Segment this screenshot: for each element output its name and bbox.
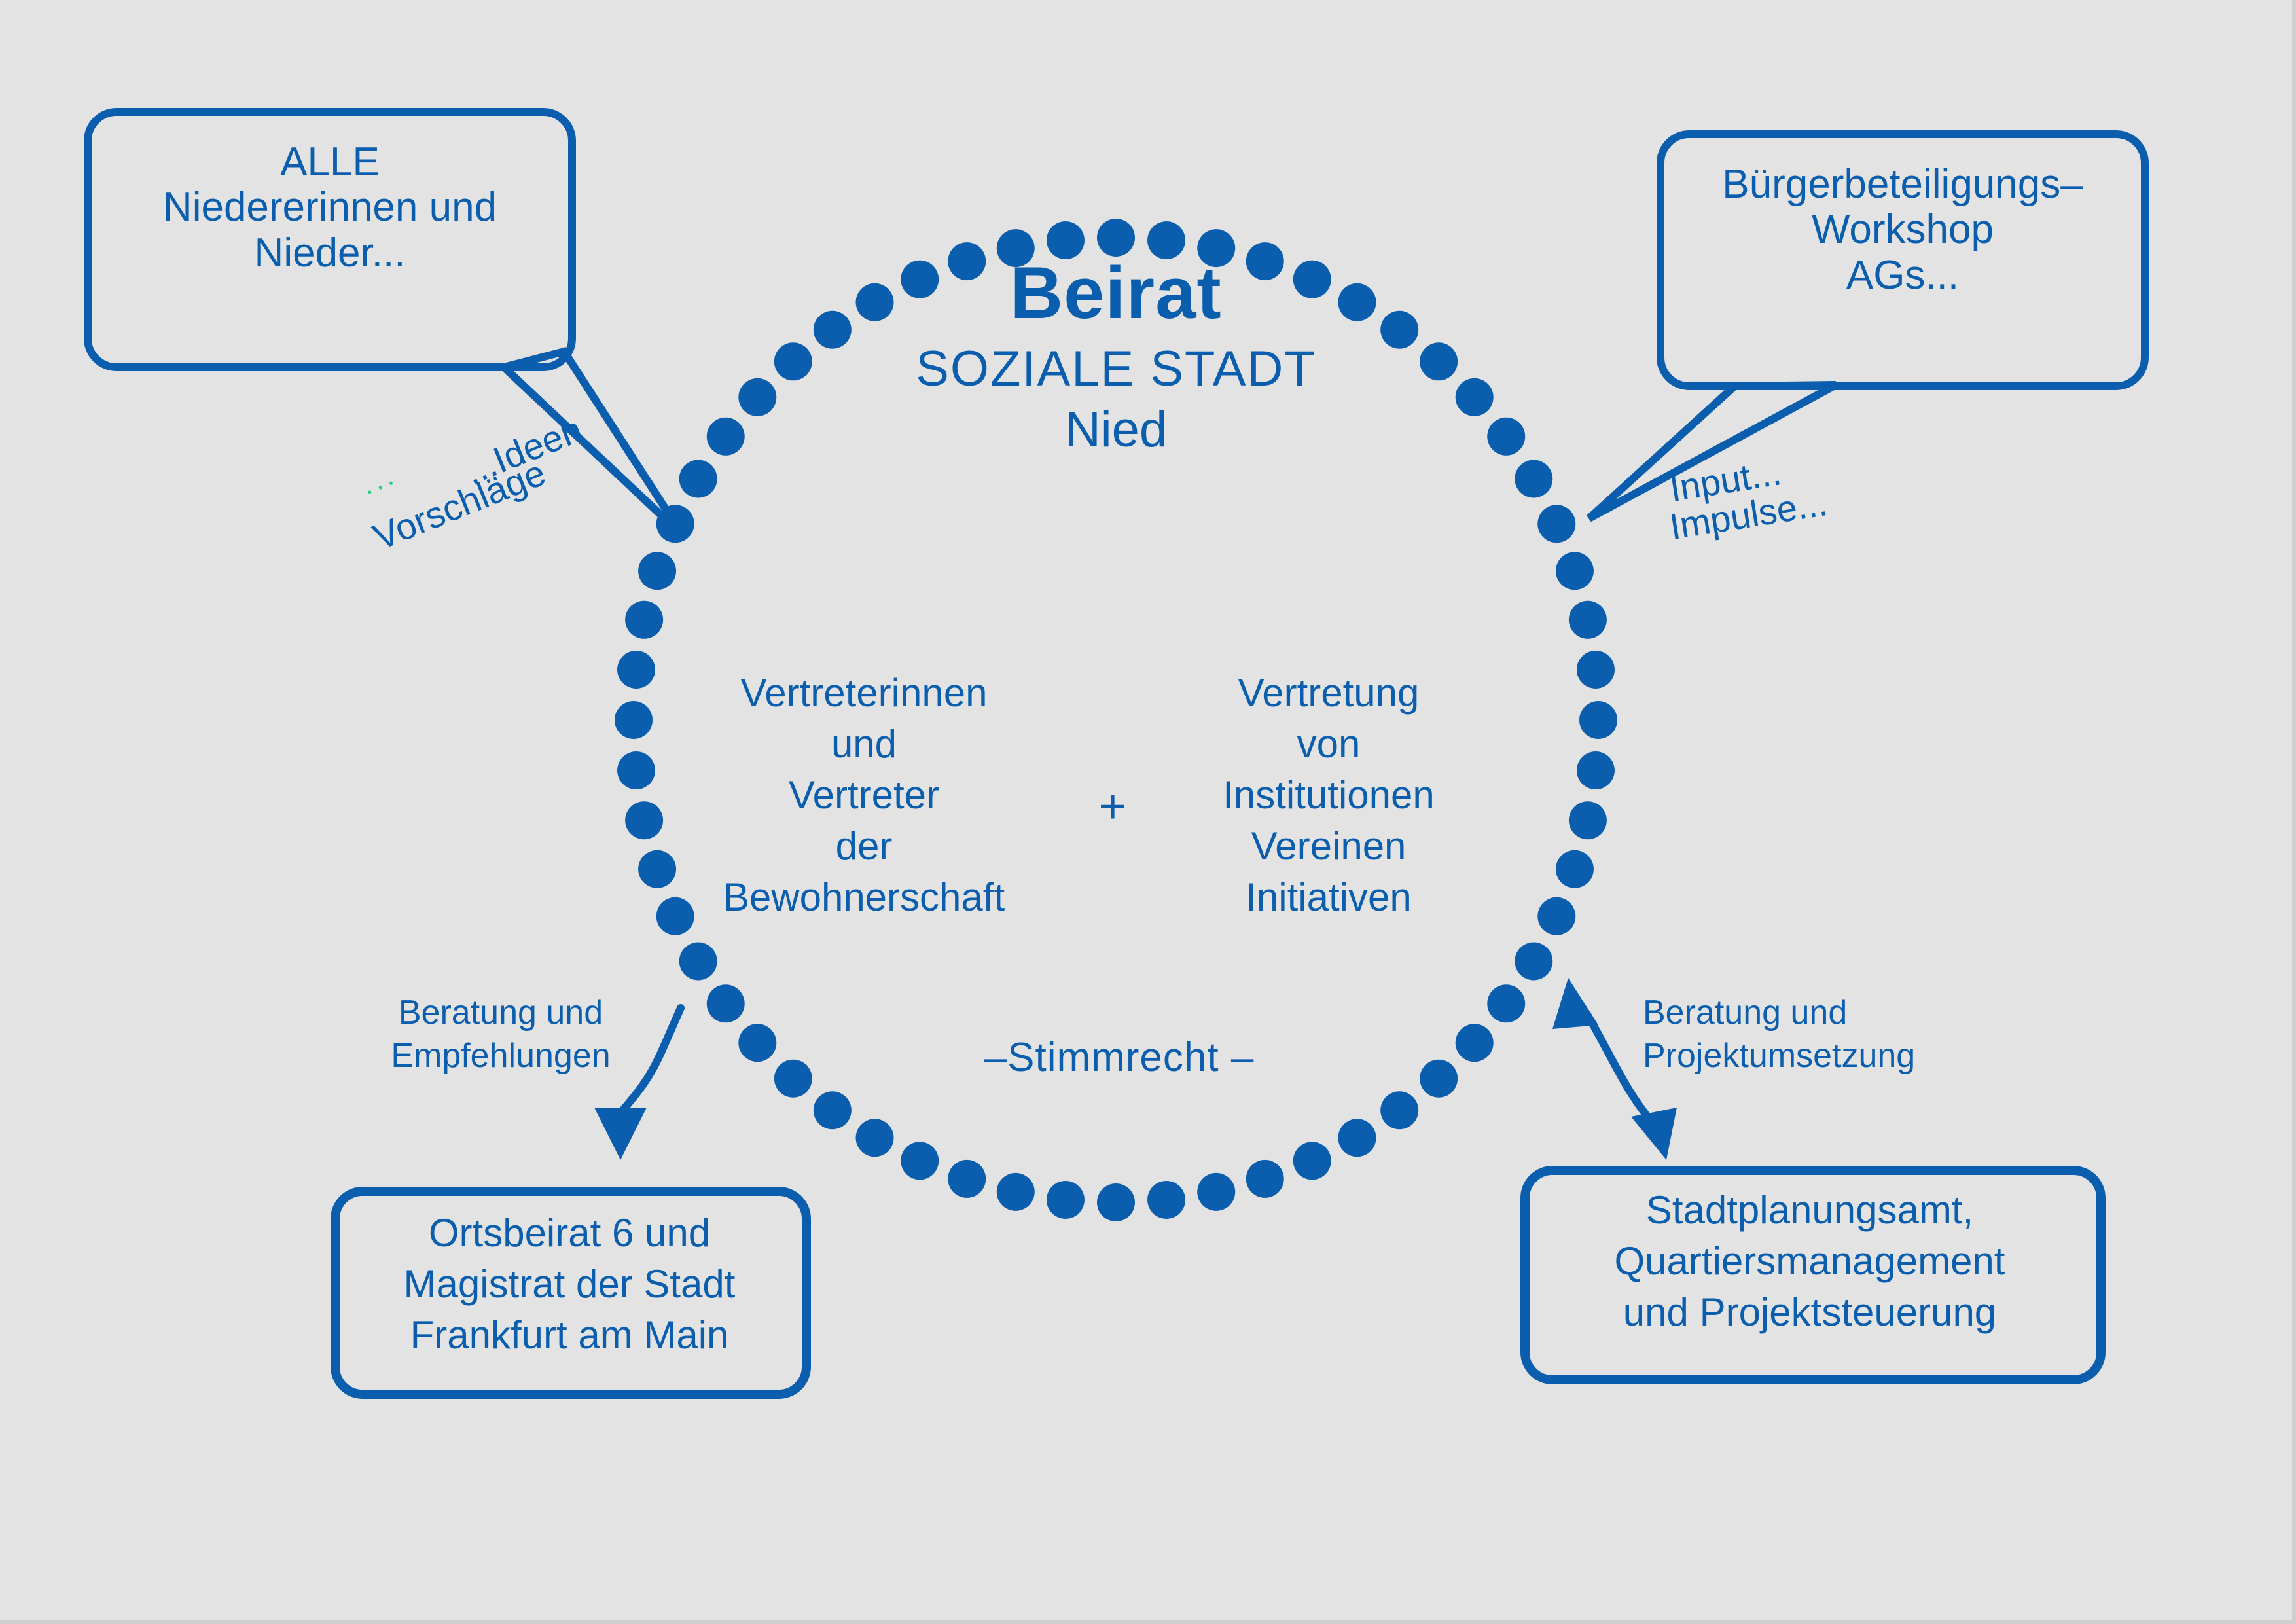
ring-dot [1246,1160,1284,1198]
left-col-line5: Bewohnerschaft [681,872,1047,923]
bubble-tr-line1: Bürgerbeteiligungs– [1660,162,2145,207]
bubble-top-right-text: Bürgerbeteiligungs– Workshop AGs... [1660,162,2145,298]
ring-dot [707,984,745,1022]
bubble-tr-line3: AGs... [1660,253,2145,298]
ring-dot [774,1060,812,1098]
left-flow-line2: Empfehlungen [370,1035,632,1078]
ring-dot [1293,1142,1331,1180]
ring-dot [856,1119,894,1157]
ring-dot [738,1024,776,1062]
stimmrecht-label: –Stimmrecht – [910,1034,1329,1081]
ring-dot [1097,219,1135,257]
left-flow-line1: Beratung und [370,992,632,1035]
ring-dot [707,418,745,456]
arrowhead-up [1552,978,1598,1029]
ring-dot [679,943,717,981]
box-br-line1: Stadtplanungsamt, [1525,1185,2094,1236]
ring-dot [1487,984,1525,1022]
box-bl-line1: Ortsbeirat 6 und [337,1208,802,1259]
box-bl-line3: Frankfurt am Main [337,1310,802,1361]
bubble-tl-line1: ALLE [88,139,572,185]
ring-dot [1556,850,1594,888]
ring-dot [1537,505,1575,543]
diagram-canvas: ALLE Niedererinnen und Nieder... Bürgerb… [0,0,2296,1624]
ring-dot [1515,943,1552,981]
left-col-line1: Vertreterinnen [681,668,1047,719]
right-col-line4: Vereinen [1172,821,1486,872]
right-col-line1: Vertretung [1172,668,1486,719]
left-col-line3: Vertreter [681,770,1047,821]
box-br-line3: und Projektsteuerung [1525,1287,2094,1338]
ring-dot [1537,897,1575,935]
ring-dot [1147,1181,1185,1219]
left-col-line4: der [681,821,1047,872]
annotation-left-flow: Beratung und Empfehlungen [370,992,632,1077]
ring-dot [638,552,676,590]
ring-dot [1338,1119,1376,1157]
ring-dot [1420,1060,1458,1098]
ring-dot [1097,1183,1135,1221]
right-col-line2: von [1172,719,1486,770]
ring-dot [1577,751,1615,789]
bubble-tl-line3: Nieder... [88,230,572,276]
box-br-line2: Quartiersmanagement [1525,1236,2094,1287]
ring-dot [615,701,653,739]
ring-dot [617,751,655,789]
ring-dot [1577,651,1615,689]
ring-dot [1579,701,1617,739]
ring-dot [1556,552,1594,590]
box-bottom-right-text: Stadtplanungsamt, Quartiersmanagement un… [1525,1185,2094,1338]
center-subtitle: SOZIALE STADT [756,339,1476,400]
ring-dot [617,651,655,689]
center-subtitle-2: Nied [756,400,1476,461]
ring-dot [1569,601,1607,639]
plus-operator: + [1083,782,1142,831]
right-flow-line2: Projektumsetzung [1643,1035,1950,1078]
ring-dot [1487,418,1525,456]
ring-dot [814,1091,852,1129]
ring-dot [1456,1024,1494,1062]
ring-dot [625,801,663,839]
center-left-column: Vertreterinnen und Vertreter der Bewohne… [681,668,1047,923]
box-bl-line2: Magistrat der Stadt [337,1259,802,1310]
center-title-block: Beirat SOZIALE STADT Nied [756,257,1476,460]
ring-dot [679,460,717,498]
ring-dot [1380,1091,1418,1129]
ring-dot [1515,460,1552,498]
arrowhead-down [1631,1108,1677,1160]
bubble-tl-line2: Niedererinnen und [88,185,572,230]
bubble-top-left-text: ALLE Niedererinnen und Nieder... [88,139,572,276]
annotation-right-flow: Beratung und Projektumsetzung [1643,992,1950,1077]
ring-dot [638,850,676,888]
right-col-line5: Initiativen [1172,872,1486,923]
ring-dot [901,1142,939,1180]
ring-dot [948,1160,986,1198]
bubble-tr-line2: Workshop [1660,207,2145,252]
left-col-line2: und [681,719,1047,770]
page-title: Beirat [756,257,1476,330]
ring-dot [1197,1173,1235,1211]
center-right-column: Vertretung von Institutionen Vereinen In… [1172,668,1486,923]
ring-dot [1047,1181,1085,1219]
ring-dot [997,1173,1035,1211]
ring-dot [1569,801,1607,839]
ring-dot [625,601,663,639]
box-bottom-left-text: Ortsbeirat 6 und Magistrat der Stadt Fra… [337,1208,802,1361]
right-col-line3: Institutionen [1172,770,1486,821]
right-flow-line1: Beratung und [1643,992,1950,1035]
